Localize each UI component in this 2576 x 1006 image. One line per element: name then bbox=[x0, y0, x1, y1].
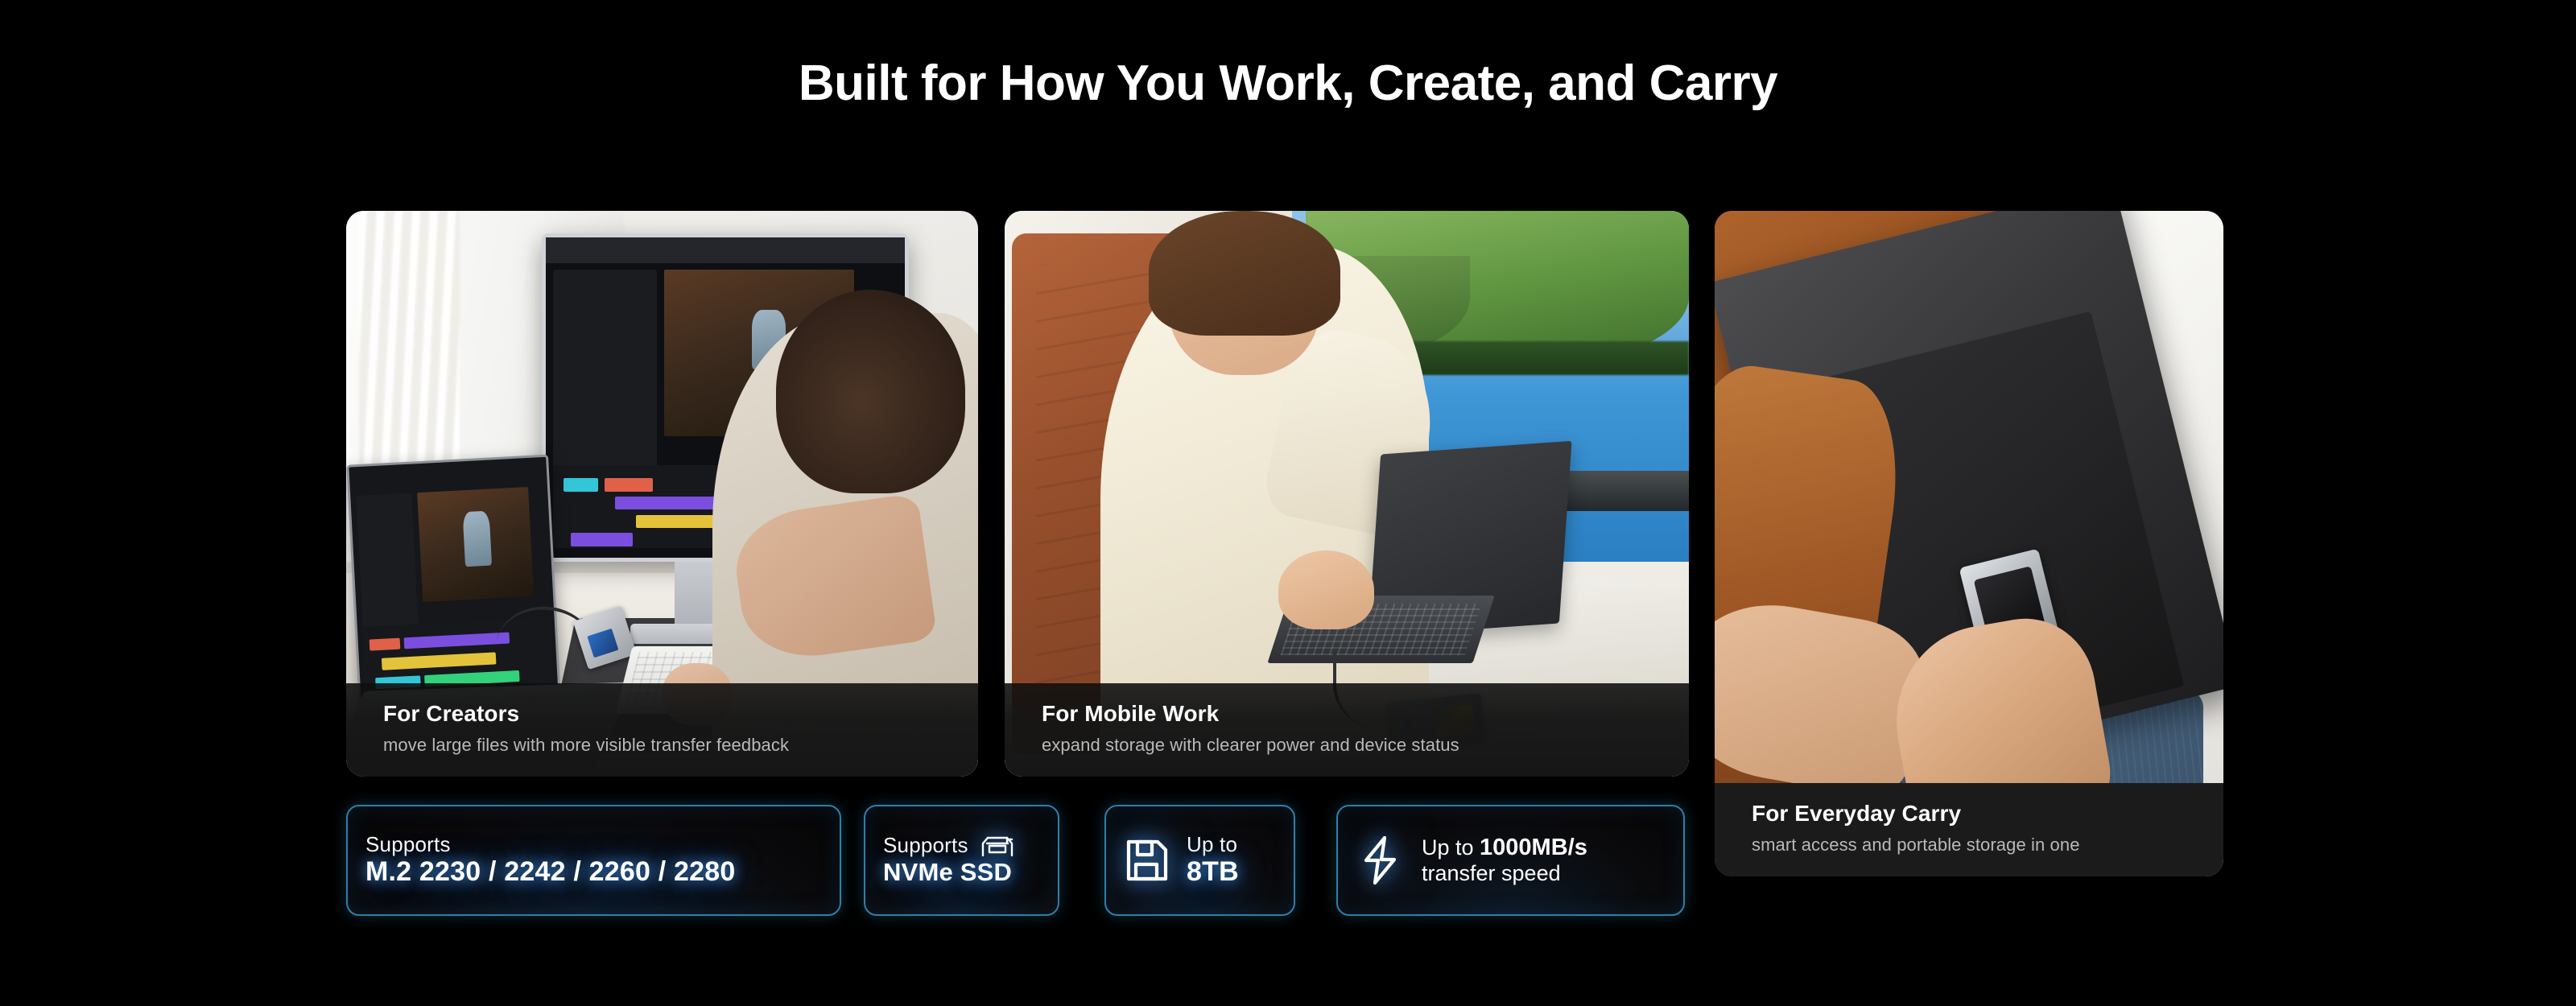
lightning-bolt-icon bbox=[1354, 834, 1407, 887]
badge-speed-line-2: transfer speed bbox=[1422, 861, 1587, 887]
floppy-disk-icon bbox=[1122, 835, 1172, 885]
card-title: For Mobile Work bbox=[1042, 701, 1652, 727]
badge-content: Supports M.2 2230 / 2242 / 2260 / 2280 bbox=[348, 833, 840, 888]
badge-label: Up to bbox=[1187, 833, 1239, 857]
card-subtitle: smart access and portable storage in one bbox=[1752, 835, 2186, 856]
card-subtitle: move large files with more visible trans… bbox=[383, 735, 941, 756]
spec-badge-m2-sizes[interactable]: Supports M.2 2230 / 2242 / 2260 / 2280 bbox=[346, 805, 841, 916]
badge-label: Supports bbox=[883, 834, 968, 858]
badge-text: Up to 8TB bbox=[1187, 833, 1239, 888]
card-caption-creators: For Creators move large files with more … bbox=[346, 683, 978, 777]
badge-content: Up to 8TB bbox=[1106, 833, 1294, 888]
feature-card-for-creators[interactable]: For Creators move large files with more … bbox=[346, 211, 978, 777]
badge-speed-prefix: Up to bbox=[1422, 835, 1480, 860]
card-caption-mobile-work: For Mobile Work expand storage with clea… bbox=[1005, 683, 1689, 777]
ssd-chip-icon bbox=[980, 834, 1015, 858]
badge-text: Up to 1000MB/s transfer speed bbox=[1422, 834, 1587, 887]
card-caption-everyday-carry: For Everyday Carry smart access and port… bbox=[1715, 783, 2223, 876]
card-title: For Creators bbox=[383, 701, 941, 727]
spec-badge-transfer-speed[interactable]: Up to 1000MB/s transfer speed bbox=[1336, 805, 1685, 916]
card-subtitle: expand storage with clearer power and de… bbox=[1042, 735, 1652, 756]
spec-badge-nvme-ssd[interactable]: Supports NVMe SSD bbox=[864, 805, 1059, 916]
badge-speed-value: 1000MB/s bbox=[1480, 835, 1587, 860]
card-title: For Everyday Carry bbox=[1752, 801, 2186, 827]
card-photo-everyday-carry bbox=[1715, 211, 2223, 876]
spec-badge-capacity[interactable]: Up to 8TB bbox=[1104, 805, 1295, 916]
badge-speed-line-1: Up to 1000MB/s bbox=[1422, 834, 1587, 861]
scene-everyday-carry bbox=[1715, 211, 2223, 876]
feature-card-for-mobile-work[interactable]: For Mobile Work expand storage with clea… bbox=[1005, 211, 1689, 777]
badge-content: Supports NVMe SSD bbox=[865, 834, 1058, 887]
badge-value: M.2 2230 / 2242 / 2260 / 2280 bbox=[365, 856, 822, 888]
feature-card-for-everyday-carry[interactable]: For Everyday Carry smart access and port… bbox=[1715, 211, 2223, 876]
page-title: Built for How You Work, Create, and Carr… bbox=[0, 55, 2576, 112]
laptop bbox=[346, 455, 561, 708]
badge-value: NVMe SSD bbox=[883, 858, 1040, 887]
badge-value: 8TB bbox=[1187, 856, 1239, 888]
badge-label: Supports bbox=[365, 833, 822, 857]
badge-content: Up to 1000MB/s transfer speed bbox=[1338, 834, 1683, 887]
